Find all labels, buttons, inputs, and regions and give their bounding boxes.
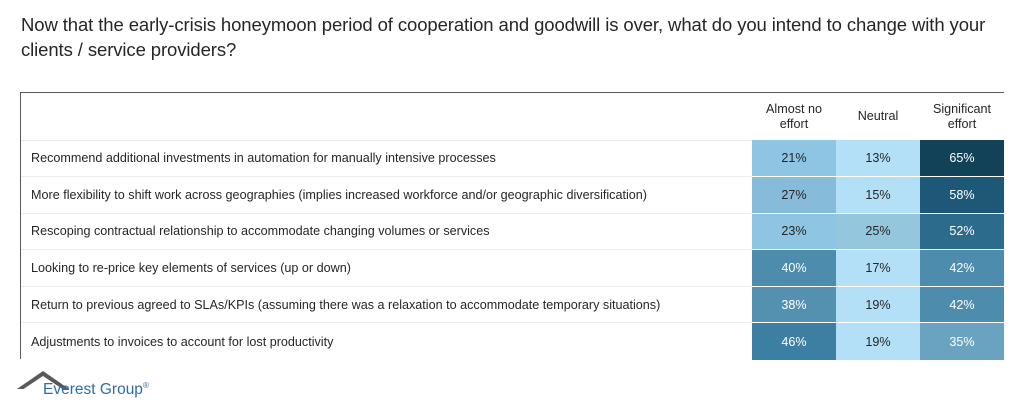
survey-results-table: Almost no effort Neutral Significant eff… bbox=[20, 92, 1004, 359]
cell-almost_no_effort: 40% bbox=[752, 250, 836, 287]
cell-almost_no_effort: 23% bbox=[752, 213, 836, 250]
cell-neutral: 15% bbox=[836, 177, 920, 214]
cell-almost_no_effort: 27% bbox=[752, 177, 836, 214]
cell-neutral: 19% bbox=[836, 323, 920, 360]
cell-significant_effort: 58% bbox=[920, 177, 1004, 214]
cell-neutral: 17% bbox=[836, 250, 920, 287]
table-row: Rescoping contractual relationship to ac… bbox=[21, 213, 1004, 250]
row-label: Looking to re-price key elements of serv… bbox=[21, 250, 752, 287]
brand-wordmark: Everest Group® bbox=[43, 381, 149, 399]
cell-neutral: 25% bbox=[836, 213, 920, 250]
row-label: Rescoping contractual relationship to ac… bbox=[21, 213, 752, 250]
table-row: More flexibility to shift work across ge… bbox=[21, 177, 1004, 214]
cell-significant_effort: 42% bbox=[920, 286, 1004, 323]
cell-almost_no_effort: 21% bbox=[752, 140, 836, 177]
everest-group-logo: Everest Group® bbox=[16, 369, 156, 403]
column-header-neutral: Neutral bbox=[836, 93, 920, 140]
cell-significant_effort: 52% bbox=[920, 213, 1004, 250]
cell-significant_effort: 65% bbox=[920, 140, 1004, 177]
row-label: Return to previous agreed to SLAs/KPIs (… bbox=[21, 286, 752, 323]
table-header: Almost no effort Neutral Significant eff… bbox=[21, 93, 1004, 140]
cell-neutral: 13% bbox=[836, 140, 920, 177]
brand-name: Everest Group bbox=[43, 381, 143, 398]
cell-neutral: 19% bbox=[836, 286, 920, 323]
table-row: Recommend additional investments in auto… bbox=[21, 140, 1004, 177]
column-header-significant-effort: Significant effort bbox=[920, 93, 1004, 140]
cell-almost_no_effort: 38% bbox=[752, 286, 836, 323]
table-row: Adjustments to invoices to account for l… bbox=[21, 323, 1004, 360]
table-row: Looking to re-price key elements of serv… bbox=[21, 250, 1004, 287]
column-header-label bbox=[21, 93, 752, 140]
registered-mark: ® bbox=[143, 381, 149, 390]
column-header-almost-no-effort: Almost no effort bbox=[752, 93, 836, 140]
row-label: Recommend additional investments in auto… bbox=[21, 140, 752, 177]
row-label: More flexibility to shift work across ge… bbox=[21, 177, 752, 214]
table-row: Return to previous agreed to SLAs/KPIs (… bbox=[21, 286, 1004, 323]
row-label: Adjustments to invoices to account for l… bbox=[21, 323, 752, 360]
cell-significant_effort: 42% bbox=[920, 250, 1004, 287]
cell-almost_no_effort: 46% bbox=[752, 323, 836, 360]
cell-significant_effort: 35% bbox=[920, 323, 1004, 360]
table-body: Recommend additional investments in auto… bbox=[21, 140, 1004, 360]
results-grid: Almost no effort Neutral Significant eff… bbox=[21, 93, 1004, 360]
page-title: Now that the early-crisis honeymoon peri… bbox=[21, 12, 996, 62]
header-row: Almost no effort Neutral Significant eff… bbox=[21, 93, 1004, 140]
